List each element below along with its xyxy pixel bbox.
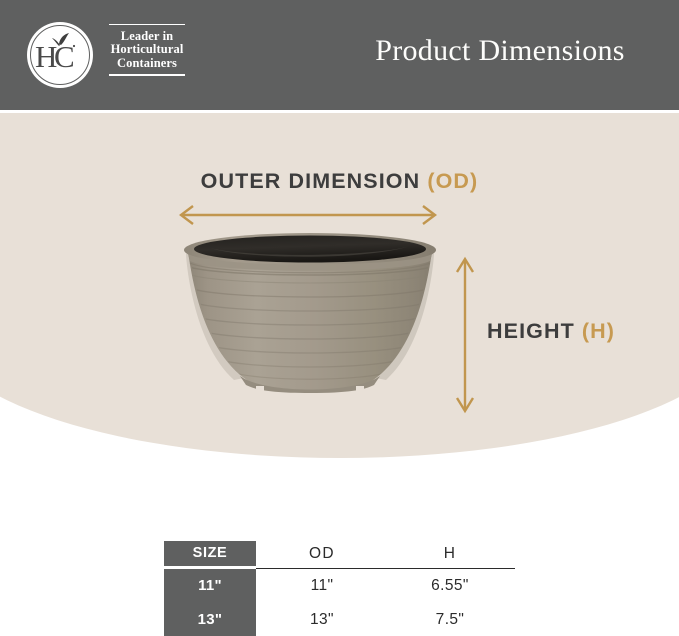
table-row: 13" (264, 603, 380, 636)
outer-dimension-label: OUTER DIMENSION (OD) (0, 169, 679, 194)
outer-dimension-text: OUTER DIMENSION (201, 169, 421, 193)
height-label: HEIGHT (H) (487, 319, 615, 344)
tagline-line-1: Leader in (107, 30, 187, 44)
table-row: 7.5" (392, 603, 508, 636)
tagline-text: Leader in Horticultural Containers (107, 25, 187, 74)
page-title: Product Dimensions (340, 34, 660, 68)
tagline-line-3: Containers (107, 57, 187, 71)
table-header-h: H (392, 541, 508, 566)
table-header-od: OD (264, 541, 380, 566)
table-row: 13" (164, 603, 256, 636)
outer-dimension-abbrev: (OD) (427, 169, 478, 193)
tagline-line-2: Horticultural (107, 43, 187, 57)
table-header-size: SIZE (164, 541, 256, 566)
brand-logo: H C Leader in Horticultural Containers (27, 20, 187, 92)
table-size-column: 11" 13" (164, 569, 256, 636)
hc-monogram-leaf-icon: H C (27, 22, 93, 88)
diagram-stage: OUTER DIMENSION (OD) HEIGHT (H) (0, 113, 679, 458)
svg-text:C: C (54, 39, 75, 74)
tagline-rule-bottom (109, 74, 185, 75)
double-headed-horizontal-arrow-icon (176, 203, 440, 227)
product-dimensions-infographic: H C Leader in Horticultural Containers P… (0, 0, 679, 636)
table-row: 11" (164, 569, 256, 603)
dimensions-table: SIZE OD H 11" 13" 11" 6.55" 13" 7.5" (164, 541, 516, 636)
height-abbrev: (H) (582, 319, 615, 343)
table-row: 11" (264, 569, 380, 603)
brand-tagline: Leader in Horticultural Containers (107, 24, 187, 76)
height-text: HEIGHT (487, 319, 575, 343)
planter-pot-image (178, 230, 442, 412)
table-row: 6.55" (392, 569, 508, 603)
double-headed-vertical-arrow-icon (452, 255, 478, 415)
